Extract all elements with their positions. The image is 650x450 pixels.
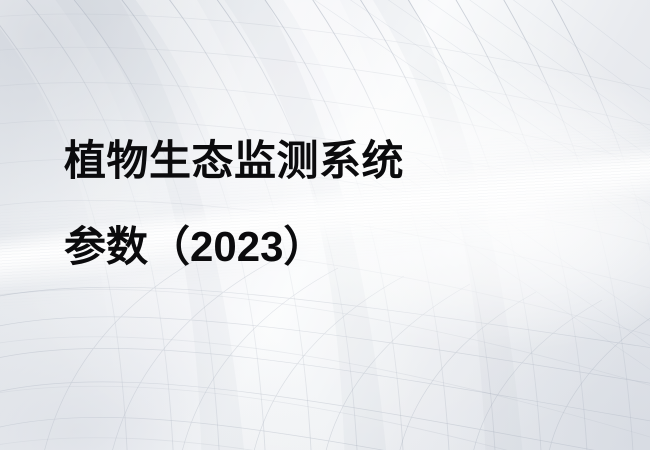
title-slide: 植物生态监测系统 参数（2023） bbox=[0, 0, 650, 450]
slide-title-block: 植物生态监测系统 参数（2023） bbox=[64, 118, 624, 290]
slide-title-line-2: 参数（2023） bbox=[64, 204, 624, 290]
slide-title-line-1: 植物生态监测系统 bbox=[64, 118, 624, 204]
